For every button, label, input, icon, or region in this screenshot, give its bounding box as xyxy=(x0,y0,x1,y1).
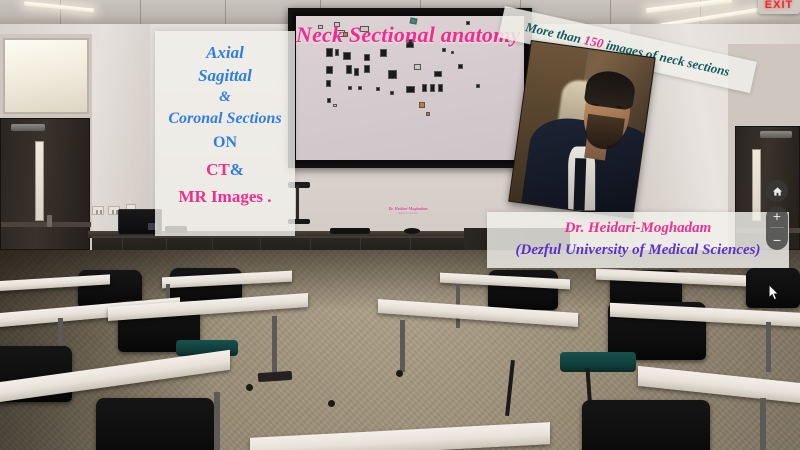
presenter-name: Dr. Heidari-Moghadam xyxy=(487,217,789,239)
left-door-transom xyxy=(3,38,89,114)
zoom-out-button[interactable]: − xyxy=(766,232,788,248)
topics-panel: Axial Sagittal & Coronal Sections ON CT&… xyxy=(155,31,295,236)
podium-object-3 xyxy=(404,228,420,234)
zoom-divider xyxy=(770,227,784,228)
table-leg xyxy=(272,316,277,372)
table-leg xyxy=(400,320,405,372)
topic-ct-amp: & xyxy=(230,160,244,179)
topic-line-coronal: Coronal Sections xyxy=(155,110,295,128)
screen-presenter-caption: Dr. Heidari-Moghadam Dezful University xyxy=(378,206,438,216)
home-button[interactable] xyxy=(766,180,788,202)
screen-presenter-sub: Dezful University xyxy=(378,211,438,216)
exit-sign-label: EXIT xyxy=(765,0,793,11)
exit-sign: EXIT xyxy=(758,0,800,14)
table-leg xyxy=(766,322,771,372)
presenter-portrait xyxy=(508,40,655,219)
topic-ct-label: CT xyxy=(206,160,230,179)
home-icon xyxy=(772,186,783,197)
left-door xyxy=(0,118,90,250)
microphone-arm xyxy=(296,185,299,221)
chair xyxy=(96,398,214,450)
presenter-organization: (Dezful University of Medical Sciences) xyxy=(487,239,789,261)
chair-seat xyxy=(560,352,636,372)
table-leg xyxy=(214,392,220,450)
topic-line-mr: MR Images . xyxy=(155,187,295,206)
topic-line-ct: CT& xyxy=(155,160,295,179)
slide-title: Neck Sectional anatomy xyxy=(296,22,520,48)
topic-line-axial: Axial xyxy=(155,43,295,62)
topic-line-sagittal: Sagittal xyxy=(155,66,295,85)
chair-caster xyxy=(328,400,335,407)
chair xyxy=(582,400,710,450)
podium-object-2 xyxy=(330,228,370,234)
zoom-in-button[interactable]: + xyxy=(766,208,788,224)
topic-line-ampersand: & xyxy=(155,89,295,106)
presenter-caption: Dr. Heidari-Moghadam (Dezful University … xyxy=(487,212,789,268)
chair-caster xyxy=(396,370,403,377)
wall-outlet-1 xyxy=(92,206,104,215)
topic-line-on: ON xyxy=(155,134,295,152)
zoom-controls[interactable]: + − xyxy=(766,206,788,250)
panorama-viewport[interactable]: EXIT xyxy=(0,0,800,450)
chair-caster xyxy=(246,384,253,391)
mouse-cursor xyxy=(769,285,780,301)
table-leg xyxy=(760,398,766,450)
